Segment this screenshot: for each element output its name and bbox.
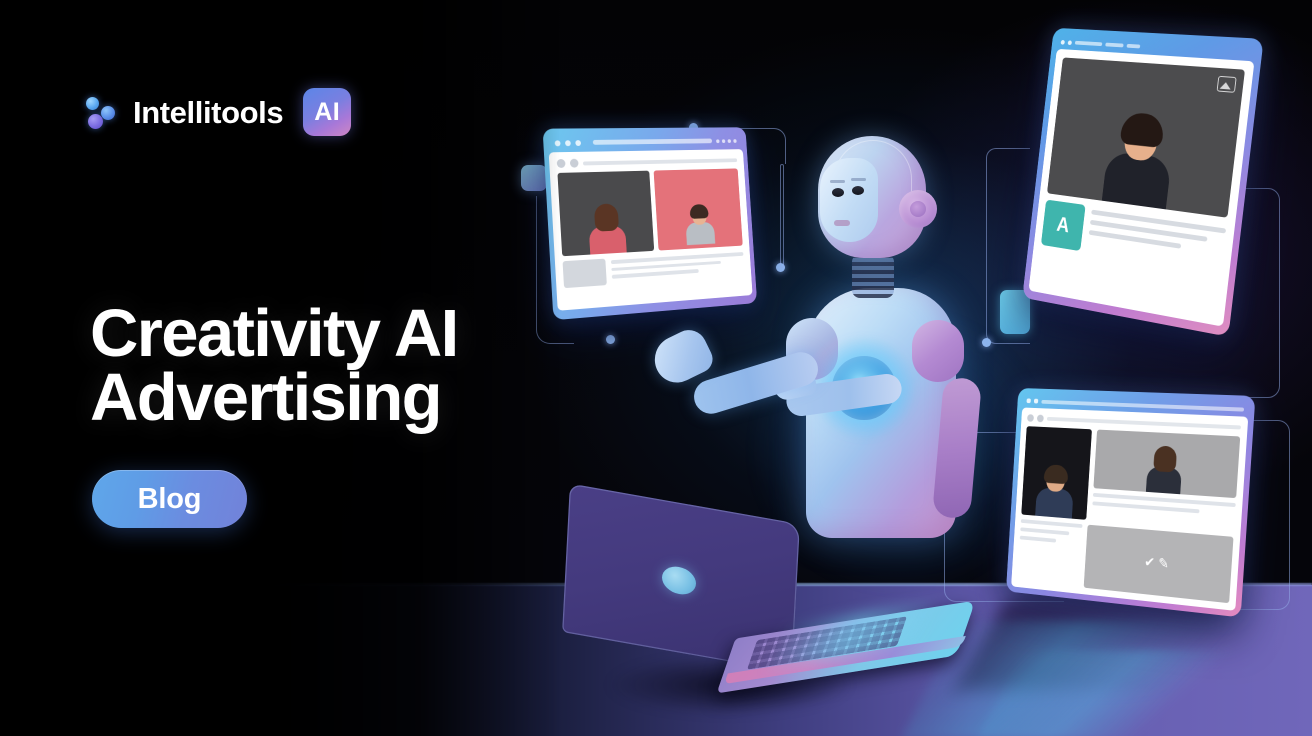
person-hair	[594, 203, 619, 231]
window-dot-icon	[575, 140, 581, 146]
avatar-dot-icon	[570, 159, 579, 168]
person-illustration	[588, 206, 627, 255]
portrait-thumbnail[interactable]	[1093, 430, 1240, 499]
hero-banner: A	[0, 0, 1312, 736]
person-hair	[1153, 445, 1177, 472]
logo-dot-icon	[88, 114, 103, 129]
photo-row	[557, 168, 742, 256]
page-title: Creativity AI Advertising	[90, 302, 458, 431]
person-body	[685, 222, 715, 246]
robot-brow	[851, 178, 866, 181]
text-lines	[611, 250, 745, 284]
titlebar-line	[1075, 41, 1103, 46]
titlebar-line	[1127, 44, 1141, 49]
window-dot-icon	[1061, 40, 1065, 45]
header-text-line	[583, 158, 737, 165]
person-body	[1035, 487, 1073, 518]
portrait-thumbnail[interactable]	[653, 168, 743, 250]
text-line	[1020, 527, 1069, 535]
blog-pill-button[interactable]: Blog	[92, 470, 247, 528]
control-dot-icon	[728, 139, 732, 143]
portrait-thumbnail[interactable]	[1021, 426, 1092, 520]
window-dot-icon	[1068, 40, 1072, 45]
avatar[interactable]: A	[1041, 200, 1086, 252]
brand-lockup[interactable]: Intellitools AI	[86, 88, 351, 136]
person-head	[691, 206, 706, 225]
page-footer-row	[563, 250, 745, 288]
text-line	[611, 252, 744, 264]
person-illustration	[684, 206, 715, 245]
card-page-content: A	[1028, 49, 1254, 327]
text-lines	[1017, 519, 1082, 587]
three-dots-logo-icon	[86, 92, 120, 132]
address-bar[interactable]	[593, 139, 712, 145]
text-lines	[1087, 206, 1227, 274]
avatar-dot-icon	[1037, 415, 1044, 423]
robot-eye	[852, 186, 864, 195]
logo-dot-icon	[86, 97, 99, 110]
robot-eye	[832, 188, 844, 197]
person-illustration	[1102, 116, 1176, 209]
profile-article-card[interactable]: A	[1022, 28, 1264, 337]
text-line	[1020, 536, 1057, 543]
image-placeholder-icon	[1217, 76, 1237, 93]
control-dot-icon	[716, 139, 720, 143]
window-dot-icon	[1027, 398, 1031, 403]
laptop	[566, 503, 966, 683]
content-row	[1021, 426, 1240, 532]
portrait-thumbnail[interactable]	[557, 171, 653, 257]
logo-dot-icon	[101, 106, 115, 120]
card-page-content	[549, 149, 753, 311]
brand-name: Intellitools	[133, 97, 283, 128]
bottom-row: ✔ ✎	[1017, 519, 1233, 603]
person-illustration	[1146, 448, 1183, 494]
control-dot-icon	[733, 139, 736, 143]
text-line	[612, 269, 699, 278]
text-line	[1021, 519, 1083, 528]
control-dot-icon	[722, 139, 726, 143]
ai-badge: AI	[303, 88, 351, 136]
robot-neck	[852, 254, 894, 298]
person-head	[597, 206, 617, 229]
robot-mouth	[834, 220, 850, 226]
robot-shoulder-right	[912, 320, 964, 382]
right-column	[1091, 430, 1240, 532]
thumbnail-block	[563, 259, 607, 289]
avatar-dot-icon	[1027, 414, 1034, 422]
person-head	[1123, 117, 1160, 162]
browser-window-card[interactable]	[543, 127, 758, 320]
robot-ear-module	[899, 190, 937, 228]
connector-node	[606, 335, 615, 344]
person-illustration	[1035, 467, 1075, 519]
person-hair	[1044, 464, 1069, 484]
hero-photo[interactable]	[1047, 57, 1245, 217]
titlebar-controls	[716, 139, 737, 143]
window-dot-icon	[1034, 399, 1038, 404]
gallery-article-card[interactable]: ✔ ✎	[1006, 388, 1256, 617]
window-dot-icon	[565, 140, 571, 146]
logo-banner: ✔ ✎	[1084, 525, 1234, 604]
titlebar-line	[1105, 43, 1123, 48]
card-page-content: ✔ ✎	[1011, 407, 1248, 610]
person-hair	[689, 204, 708, 219]
person-hair	[1120, 112, 1166, 148]
person-head	[1156, 448, 1175, 470]
page-header-row	[557, 156, 738, 168]
robot-brow	[830, 180, 845, 183]
robot-face	[820, 158, 878, 242]
